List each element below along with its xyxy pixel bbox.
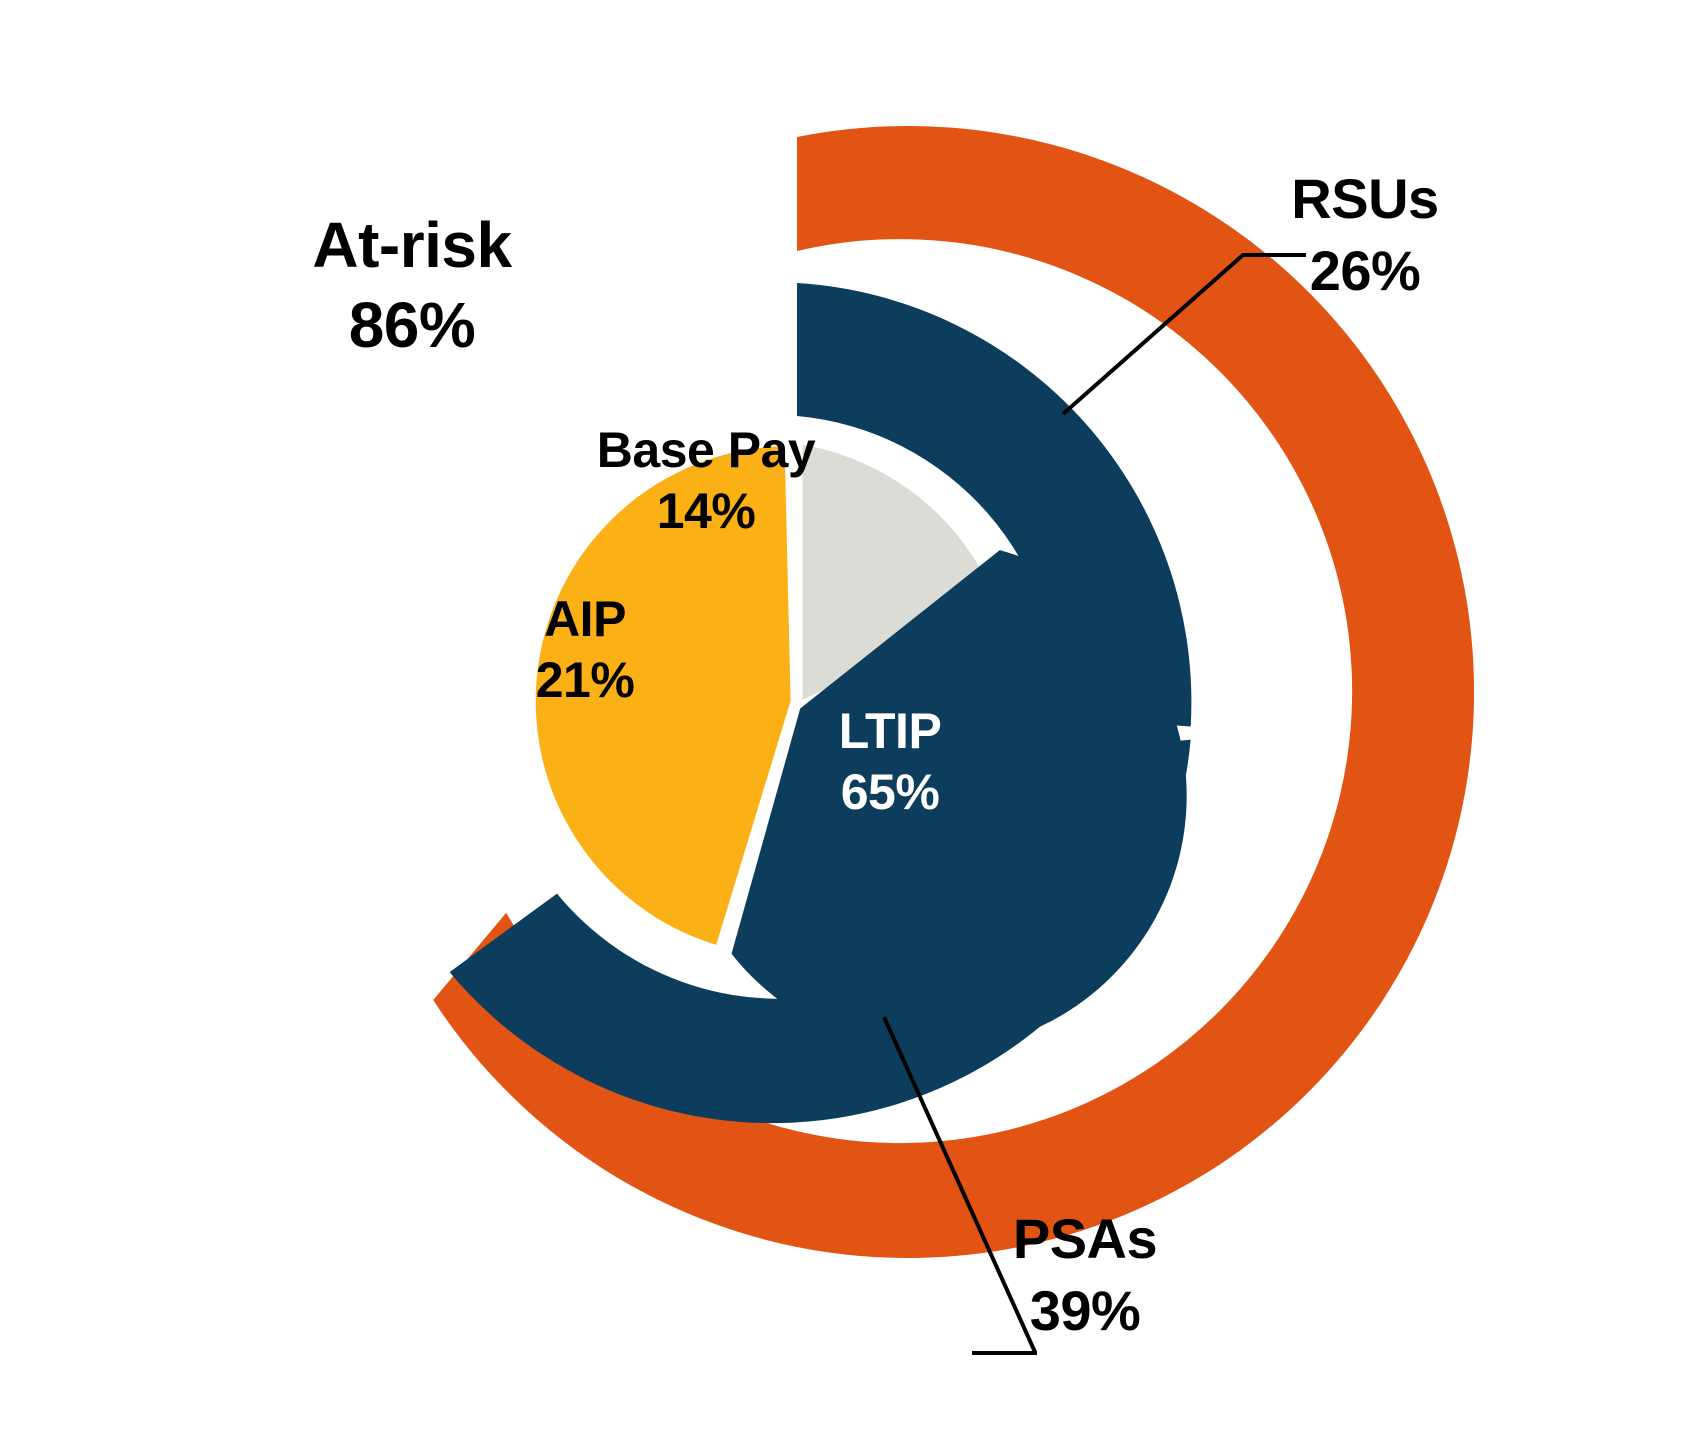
label-ltip: LTIP 65% — [775, 704, 1005, 820]
label-psas: PSAs 39% — [960, 1208, 1210, 1341]
label-psas-value: 39% — [960, 1280, 1210, 1342]
label-rsus-value: 26% — [1240, 240, 1490, 302]
pay-mix-chart: At-risk 86% RSUs 26% PSAs 39% Base Pay 1… — [0, 0, 1690, 1438]
label-ltip-value: 65% — [775, 765, 1005, 820]
label-at-risk-value: 86% — [232, 290, 592, 360]
label-base-pay-value: 14% — [566, 484, 846, 539]
label-rsus-name: RSUs — [1291, 167, 1438, 230]
label-aip-value: 21% — [470, 653, 700, 708]
label-at-risk: At-risk 86% — [232, 210, 592, 361]
label-base-pay: Base Pay 14% — [566, 423, 846, 539]
label-rsus: RSUs 26% — [1240, 168, 1490, 301]
label-psas-name: PSAs — [1013, 1207, 1157, 1270]
label-base-pay-name: Base Pay — [597, 422, 815, 478]
label-aip: AIP 21% — [470, 592, 700, 708]
label-ltip-name: LTIP — [839, 703, 942, 759]
label-at-risk-name: At-risk — [312, 209, 511, 281]
label-aip-name: AIP — [544, 591, 626, 647]
